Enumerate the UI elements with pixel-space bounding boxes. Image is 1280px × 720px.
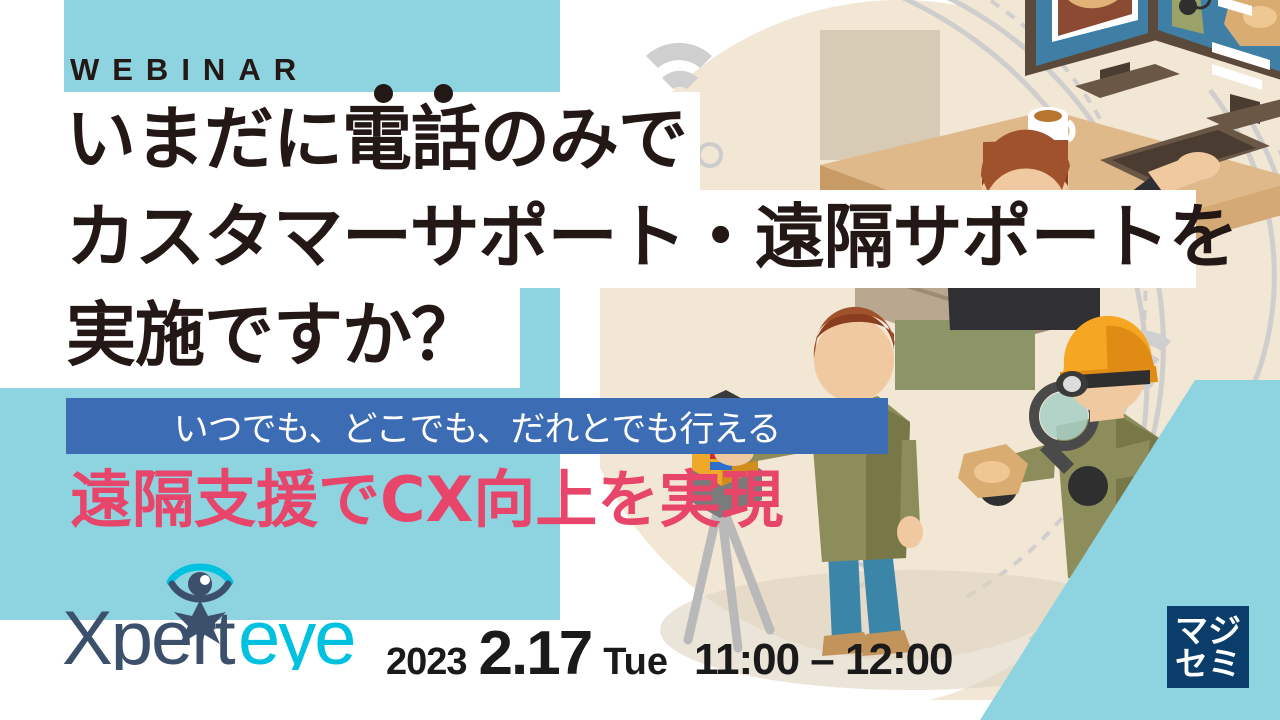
subtitle-band-text: いつでも、どこでも、だれとでも行える	[174, 401, 781, 452]
subtitle-band: いつでも、どこでも、だれとでも行える	[66, 398, 888, 454]
majisemi-badge: マジ セミ	[1167, 606, 1249, 688]
schedule-date: 2.17	[479, 618, 592, 689]
headline-line-2: カスタマーサポート・遠隔サポートを	[66, 202, 1238, 272]
xperteye-logo: Xpert eye	[62, 560, 362, 670]
webinar-banner: WEBINAR いまだに電話のみで カスタマーサポート・遠隔サポートを 実施です…	[0, 0, 1280, 720]
headline-line-3: 実施ですか？	[66, 300, 480, 370]
svg-text:Xpert: Xpert	[62, 596, 236, 670]
majisemi-badge-line-1: マジ	[1175, 614, 1241, 647]
schedule-day-of-week: Tue	[603, 641, 668, 684]
svg-text:eye: eye	[238, 596, 355, 670]
schedule-year: 2023	[386, 641, 467, 684]
headline-backdrop-top	[0, 0, 64, 92]
webinar-kicker: WEBINAR	[70, 52, 309, 88]
headline-line-1: いまだに電話のみで	[66, 104, 687, 174]
majisemi-badge-line-2: セミ	[1175, 647, 1241, 680]
highlight-headline: 遠隔支援でCX向上を実現	[70, 466, 783, 534]
schedule-line: 2023 2.17 Tue 11:00 – 12:00	[386, 618, 953, 689]
schedule-time-range: 11:00 – 12:00	[694, 635, 953, 685]
